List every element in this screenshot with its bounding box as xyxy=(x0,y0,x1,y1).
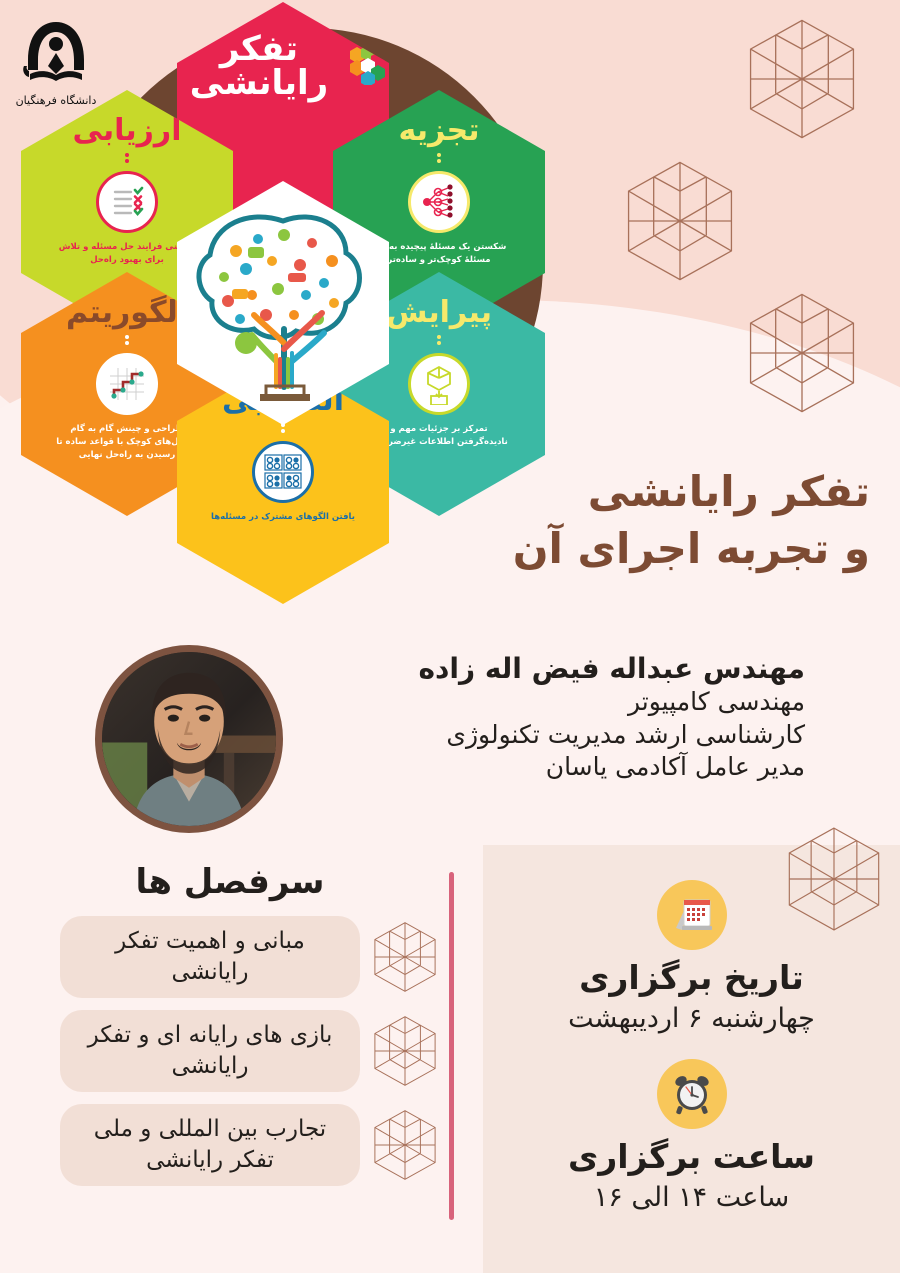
topics-title: سرفصل ها xyxy=(60,862,440,902)
speaker-block: مهندس عبداله فیض اله زاده مهندسی کامپیوت… xyxy=(95,645,805,835)
dots-decoration xyxy=(437,333,441,349)
hex-evaluation-title: ارزیابی xyxy=(73,116,182,146)
alarm-clock-icon xyxy=(657,1059,727,1129)
speaker-credential-1: مهندسی کامپیوتر xyxy=(305,686,805,719)
event-datetime-block: تاریخ برگزاری چهارشنبه ۶ اردیبهشت xyxy=(483,880,900,1215)
topic-label: بازی های رایانه ای و تفکر رایانشی xyxy=(60,1010,360,1092)
decorative-cube-icon xyxy=(370,921,440,993)
topic-label: تجارب بین المللی و ملی تفکر رایانشی xyxy=(60,1104,360,1186)
date-value: چهارشنبه ۶ اردیبهشت xyxy=(483,1002,900,1036)
date-label: تاریخ برگزاری xyxy=(483,958,900,998)
hex-pattern-desc: یافتن الگوهای مشترک در مسئله‌ها xyxy=(208,511,358,524)
dots-decoration xyxy=(125,333,129,349)
topic-item: تجارب بین المللی و ملی تفکر رایانشی xyxy=(60,1104,440,1186)
logo-caption: دانشگاه فرهنگیان xyxy=(16,94,97,107)
poster-root: دانشگاه فرهنگیان xyxy=(0,0,900,1273)
hex-decomposition-title: تجزیه xyxy=(399,116,480,146)
topic-label: مبانی و اهمیت تفکر رایانشی xyxy=(60,916,360,998)
dots-decoration xyxy=(125,151,129,167)
decorative-cube-icon xyxy=(370,1109,440,1181)
tree-nodes-icon xyxy=(408,171,470,233)
topics-section: سرفصل ها مبانی و اهمیت تفکر رایانشی xyxy=(60,862,440,1198)
speaker-details: مهندس عبداله فیض اله زاده مهندسی کامپیوت… xyxy=(305,651,805,784)
headline-line-1: تفکر رایانشی xyxy=(450,464,870,521)
pattern-grid-icon xyxy=(252,441,314,503)
farhangian-university-logo: دانشگاه فرهنگیان xyxy=(8,8,104,112)
hex-abstraction-title: پیرایش xyxy=(386,298,492,328)
dots-decoration xyxy=(437,151,441,167)
topic-item: مبانی و اهمیت تفکر رایانشی xyxy=(60,916,440,998)
topic-item: بازی های رایانه ای و تفکر رایانشی xyxy=(60,1010,440,1092)
hex-brand-title: تفکر رایانشی xyxy=(177,32,341,100)
speaker-credential-3: مدیر عامل آکادمی یاسان xyxy=(305,751,805,784)
vertical-divider xyxy=(449,872,454,1220)
speaker-name: مهندس عبداله فیض اله زاده xyxy=(305,651,805,686)
stairs-path-icon xyxy=(96,353,158,415)
headline-line-2: و تجربه اجرای آن xyxy=(450,521,870,578)
brain-tree-illustration-icon xyxy=(188,203,378,403)
decorative-cube-icon xyxy=(370,1015,440,1087)
calendar-icon xyxy=(657,880,727,950)
checklist-icon xyxy=(96,171,158,233)
time-label: ساعت برگزاری xyxy=(483,1137,900,1177)
speaker-credential-2: کارشناسی ارشد مدیریت تکنولوژی xyxy=(305,719,805,752)
time-value: ساعت ۱۴ الی ۱۶ xyxy=(483,1181,900,1215)
hex-algorithm-title: الگوریتم xyxy=(66,298,188,328)
speaker-avatar xyxy=(95,645,283,833)
cube-to-square-icon xyxy=(408,353,470,415)
page-title: تفکر رایانشی و تجربه اجرای آن xyxy=(450,464,870,577)
